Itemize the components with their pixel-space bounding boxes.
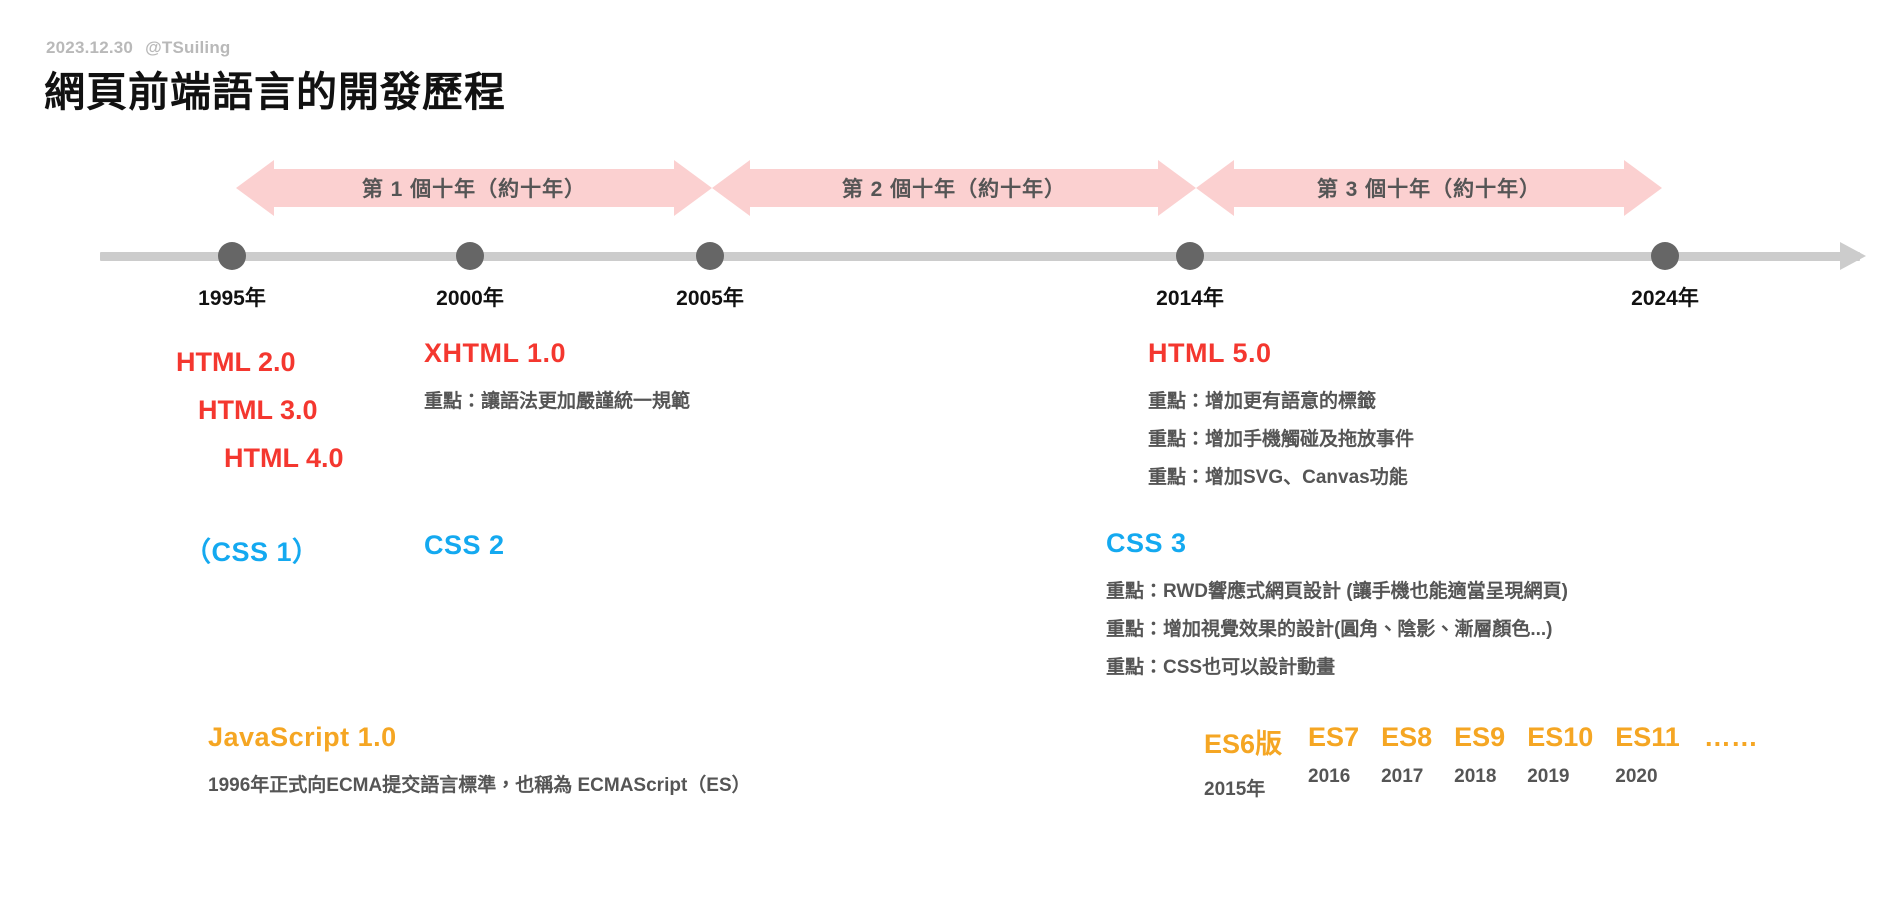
html-version-1: HTML 2.0 [176,338,344,386]
es-version-more-ellipsis: …… [1704,722,1758,753]
xhtml-block: XHTML 1.0 重點：讓語法更加嚴謹統一規範 [424,338,690,421]
infographic-canvas: 2023.12.30@TSuiling 網頁前端語言的開發歷程 第 1 個十年（… [0,0,1900,900]
html5-note-2: 重點：增加手機觸碰及拖放事件 [1148,421,1414,459]
html5-title: HTML 5.0 [1148,338,1414,369]
es-version-name: ES9 [1454,722,1505,753]
es-version-year: 2015年 [1204,774,1282,801]
es-version-item: ES72016 [1308,722,1359,788]
decade-arrow-label-3: 第 3 個十年（約十年） [1196,160,1662,216]
timeline-year-label-2000: 2000年 [436,282,504,312]
css2-label: CSS 2 [424,530,505,561]
html-version-3: HTML 4.0 [224,434,344,482]
javascript-block: JavaScript 1.0 1996年正式向ECMA提交語言標準，也稱為 EC… [208,722,751,805]
decade-arrow-label-2: 第 2 個十年（約十年） [712,160,1196,216]
es-version-name: ES10 [1527,722,1593,753]
es-version-item: ES6版2015年 [1204,722,1282,801]
timeline-dot-2005[interactable] [696,242,724,270]
timeline-dot-1995[interactable] [218,242,246,270]
css3-note-1: 重點：RWD響應式網頁設計 (讓手機也能適當呈現網頁) [1106,573,1568,611]
decade-arrow-label-1: 第 1 個十年（約十年） [236,160,712,216]
html5-note-3: 重點：增加SVG、Canvas功能 [1148,459,1414,497]
javascript-title: JavaScript 1.0 [208,722,751,753]
timeline-year-label-2024: 2024年 [1631,282,1699,312]
decade-arrow-3: 第 3 個十年（約十年） [1196,160,1662,216]
es-version-year: 2018 [1454,766,1505,788]
html5-block: HTML 5.0 重點：增加更有語意的標籤 重點：增加手機觸碰及拖放事件 重點：… [1148,338,1414,497]
decade-arrow-1: 第 1 個十年（約十年） [236,160,712,216]
timeline-year-label-2014: 2014年 [1156,282,1224,312]
timeline-year-label-1995: 1995年 [198,282,266,312]
page-title: 網頁前端語言的開發歷程 [44,58,506,118]
es-version-row: ES6版2015年ES72016ES82017ES92018ES102019ES… [1204,722,1758,801]
html5-note-1: 重點：增加更有語意的標籤 [1148,383,1414,421]
es-version-item: ES92018 [1454,722,1505,788]
byline-date: 2023.12.30 [46,38,133,57]
timeline-dot-2014[interactable] [1176,242,1204,270]
es-version-name: ES8 [1381,722,1432,753]
es-version-name: ES6版 [1204,722,1282,761]
es-version-name: ES7 [1308,722,1359,753]
css3-note-3: 重點：CSS也可以設計動畫 [1106,649,1568,687]
es-version-item: ES102019 [1527,722,1593,788]
es-version-year: 2020 [1615,766,1680,788]
javascript-note: 1996年正式向ECMA提交語言標準，也稱為 ECMAScript（ES） [208,767,751,805]
es-version-item: ES82017 [1381,722,1432,788]
decade-arrow-2: 第 2 個十年（約十年） [712,160,1196,216]
css3-note-2: 重點：增加視覺效果的設計(圓角、陰影、漸層顏色...) [1106,611,1568,649]
css3-title: CSS 3 [1106,528,1568,559]
timeline-year-label-2005: 2005年 [676,282,744,312]
timeline-dot-2024[interactable] [1651,242,1679,270]
timeline-dot-2000[interactable] [456,242,484,270]
timeline-axis-arrowhead [1840,242,1866,270]
xhtml-title: XHTML 1.0 [424,338,690,369]
css1-label: （CSS 1） [184,530,320,569]
es-version-year: 2019 [1527,766,1593,788]
es-version-name: ES11 [1615,722,1680,753]
byline-handle: @TSuiling [145,38,230,57]
html-version-2: HTML 3.0 [198,386,344,434]
timeline-axis [100,252,1860,261]
byline: 2023.12.30@TSuiling [46,38,231,58]
css3-block: CSS 3 重點：RWD響應式網頁設計 (讓手機也能適當呈現網頁) 重點：增加視… [1106,528,1568,687]
es-version-year: 2016 [1308,766,1359,788]
html-early-versions: HTML 2.0 HTML 3.0 HTML 4.0 [176,338,344,482]
xhtml-note-1: 重點：讓語法更加嚴謹統一規範 [424,383,690,421]
es-version-year: 2017 [1381,766,1432,788]
es-version-item: ES112020 [1615,722,1680,788]
